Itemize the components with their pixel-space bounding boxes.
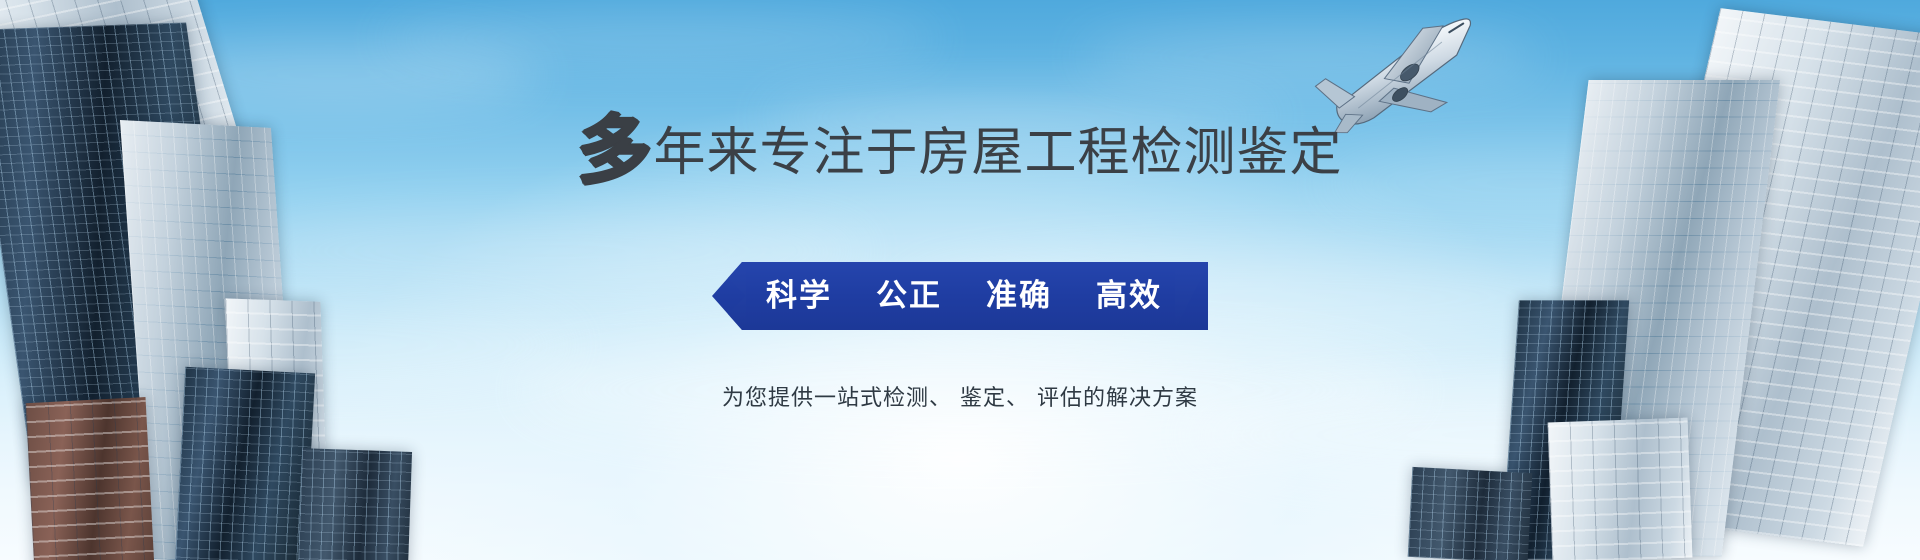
keyword-item: 公正 xyxy=(876,281,942,312)
page-title: 多年来专注于房屋工程检测鉴定 xyxy=(0,114,1920,188)
ribbon-tail xyxy=(1175,262,1209,330)
headline-rest: 年来专注于房屋工程检测鉴定 xyxy=(653,127,1342,179)
banner-content: 多年来专注于房屋工程检测鉴定 科学 公正 准确 高效 为您提供一站式检测、 鉴定… xyxy=(0,0,1920,560)
keywords-list: 科学 公正 准确 高效 xyxy=(766,262,1162,330)
keywords-ribbon: 科学 公正 准确 高效 xyxy=(712,262,1208,330)
keyword-item: 高效 xyxy=(1096,281,1162,312)
hero-banner: 多年来专注于房屋工程检测鉴定 科学 公正 准确 高效 为您提供一站式检测、 鉴定… xyxy=(0,0,1920,560)
headline-lead-char: 多 xyxy=(577,114,651,188)
keyword-item: 科学 xyxy=(766,281,832,312)
keywords-ribbon-wrap: 科学 公正 准确 高效 xyxy=(0,262,1920,330)
page-subtitle: 为您提供一站式检测、 鉴定、 评估的解决方案 xyxy=(0,380,1920,412)
keyword-item: 准确 xyxy=(986,281,1052,312)
